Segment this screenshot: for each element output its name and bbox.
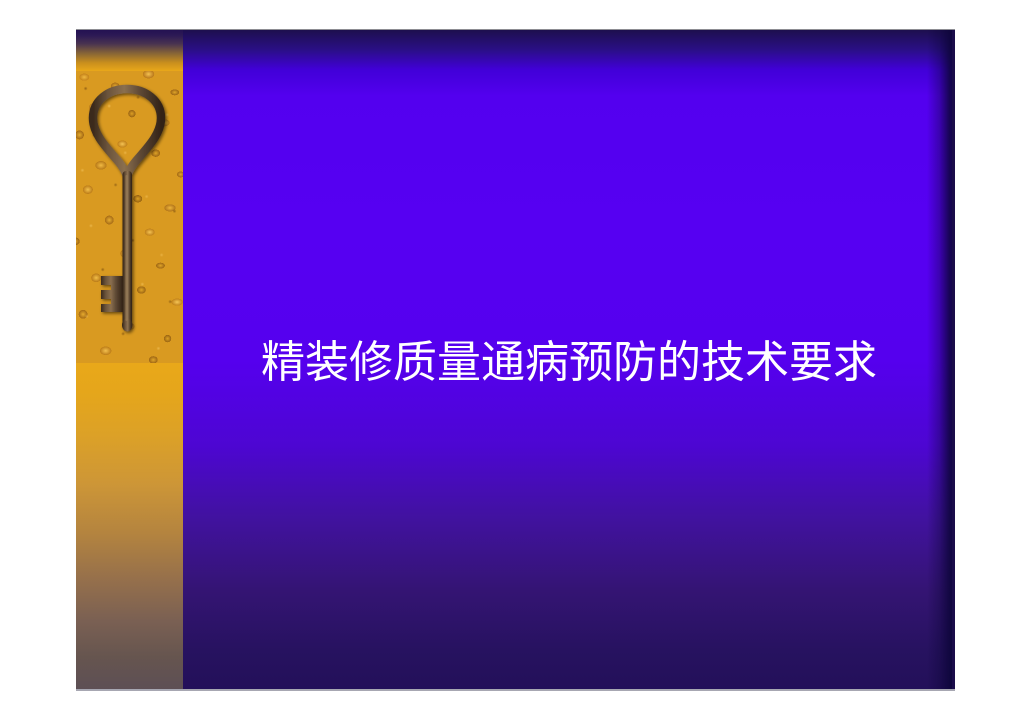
panel-right-edge xyxy=(952,30,955,690)
strip-top-gradient-band xyxy=(76,30,183,71)
slide-canvas: 精装修质量通病预防的技术要求 xyxy=(0,0,1024,724)
skeleton-key-icon xyxy=(76,71,183,363)
presentation-slide: 精装修质量通病预防的技术要求 xyxy=(76,30,955,690)
key-bow xyxy=(93,89,161,177)
key-photograph xyxy=(76,71,183,363)
slide-bottom-border xyxy=(76,689,955,691)
key-shank-highlight xyxy=(125,175,127,321)
key-bit xyxy=(101,276,123,312)
strip-lower-gradient xyxy=(76,363,183,690)
slide-main-panel xyxy=(183,30,955,690)
left-decorative-strip xyxy=(76,30,183,690)
panel-right-shading xyxy=(927,30,955,690)
